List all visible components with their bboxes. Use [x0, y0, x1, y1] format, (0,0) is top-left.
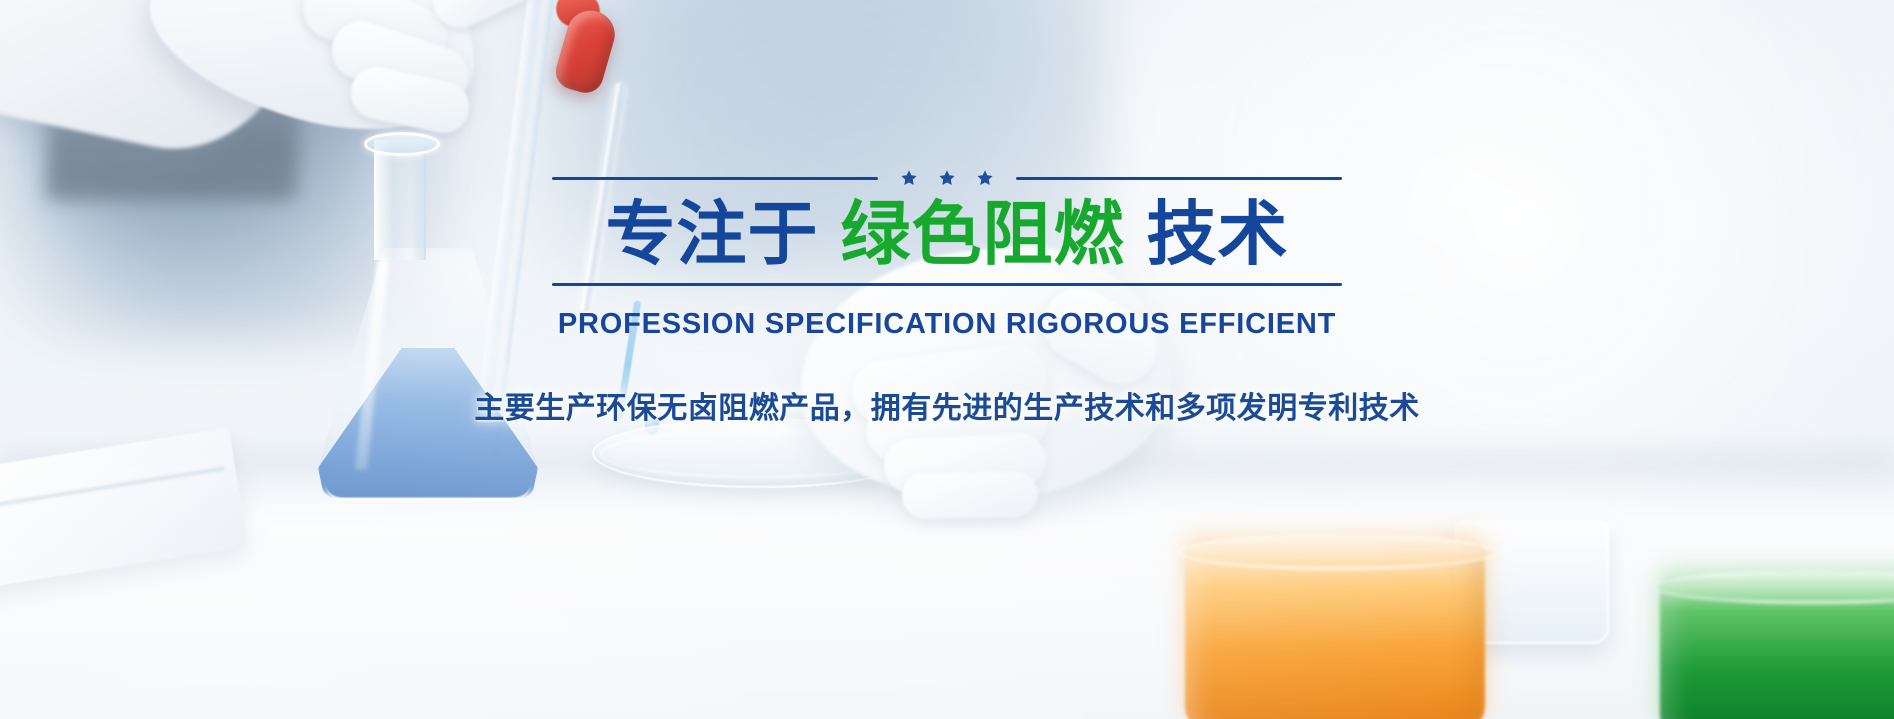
banner-stage: 专注于绿色阻燃技术 PROFESSION SPECIFICATION RIGOR… [0, 0, 1894, 719]
rule-segment-left [552, 177, 878, 180]
headline-underline [552, 283, 1342, 286]
star-icon [938, 169, 956, 187]
headline-part-3: 技术 [1147, 193, 1289, 275]
banner-text-overlay: 专注于绿色阻燃技术 PROFESSION SPECIFICATION RIGOR… [0, 0, 1894, 719]
star-icon [900, 169, 918, 187]
headline: 专注于绿色阻燃技术 [606, 196, 1289, 281]
rule-segment-right [1016, 177, 1342, 180]
tagline: 主要生产环保无卤阻燃产品，拥有先进的生产技术和多项发明专利技术 [474, 383, 1420, 427]
headline-part-2: 绿色阻燃 [841, 193, 1125, 275]
star-group [878, 169, 1016, 187]
headline-part-1: 专注于 [606, 193, 819, 275]
english-subtitle: PROFESSION SPECIFICATION RIGOROUS EFFICI… [558, 308, 1336, 341]
star-icon [976, 169, 994, 187]
decorative-rule-with-stars [552, 168, 1342, 188]
